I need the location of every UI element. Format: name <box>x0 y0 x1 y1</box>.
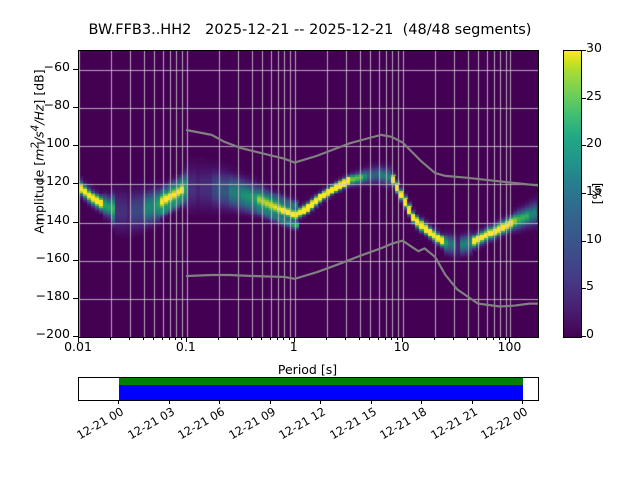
nlnm-curve <box>187 241 538 307</box>
colorbar-tick-label: 20 <box>586 137 602 150</box>
y-tick-label: −180 <box>10 290 70 303</box>
x-tick-mark-minor <box>326 337 327 340</box>
x-tick-label: 1 <box>264 341 324 354</box>
y-tick-label: −60 <box>10 61 70 74</box>
x-tick-mark-minor <box>237 337 238 340</box>
x-tick-mark-minor <box>467 337 468 340</box>
x-tick-mark-minor <box>218 337 219 340</box>
ppsd-figure: BW.FFB3..HH2 2025-12-21 -- 2025-12-21 (4… <box>0 0 640 480</box>
colorbar-tick-label: 30 <box>586 42 602 55</box>
colorbar-label: [%] <box>590 154 605 234</box>
coverage-timeline <box>78 377 539 401</box>
y-tick-mark <box>73 298 78 299</box>
colorbar <box>563 50 582 338</box>
x-tick-mark-minor <box>359 337 360 340</box>
x-tick-mark-minor <box>486 337 487 340</box>
y-tick-label: −200 <box>10 328 70 341</box>
x-tick-mark-minor <box>277 337 278 340</box>
x-tick-label: 100 <box>479 341 539 354</box>
nhnm-curve <box>187 130 538 185</box>
y-tick-mark <box>73 222 78 223</box>
y-tick-label: −100 <box>10 137 70 150</box>
x-tick-mark-minor <box>129 337 130 340</box>
colorbar-tick-label: 0 <box>586 328 594 341</box>
x-tick-mark-minor <box>369 337 370 340</box>
x-tick-label: 10 <box>372 341 432 354</box>
colorbar-tick-label: 5 <box>586 280 594 293</box>
y-tick-label: −120 <box>10 175 70 188</box>
x-tick-mark-minor <box>477 337 478 340</box>
y-tick-mark <box>73 260 78 261</box>
x-tick-mark-minor <box>345 337 346 340</box>
y-tick-mark <box>73 69 78 70</box>
x-tick-mark-minor <box>283 337 284 340</box>
colorbar-tick-label: 25 <box>586 90 602 103</box>
x-tick-mark-minor <box>251 337 252 340</box>
x-tick-mark-minor <box>261 337 262 340</box>
x-tick-mark-minor <box>169 337 170 340</box>
y-tick-label: −140 <box>10 214 70 227</box>
x-tick-mark-minor <box>153 337 154 340</box>
y-tick-mark <box>73 107 78 108</box>
colorbar-tick-label: 10 <box>586 233 602 246</box>
noise-model-curves <box>79 51 538 337</box>
x-tick-mark-minor <box>434 337 435 340</box>
y-tick-label: −160 <box>10 252 70 265</box>
x-tick-mark-minor <box>453 337 454 340</box>
x-tick-mark-minor <box>110 337 111 340</box>
y-tick-mark <box>73 183 78 184</box>
x-tick-mark-minor <box>493 337 494 340</box>
x-tick-label: 0.01 <box>48 341 108 354</box>
ppsd-plot-area <box>78 50 539 338</box>
timeline-segment-used <box>119 378 523 385</box>
x-tick-mark-minor <box>385 337 386 340</box>
x-tick-label: 0.1 <box>156 341 216 354</box>
x-tick-mark-minor <box>378 337 379 340</box>
y-tick-mark <box>73 145 78 146</box>
x-tick-mark-minor <box>270 337 271 340</box>
x-axis-label: Period [s] <box>78 362 537 377</box>
timeline-segment-available <box>119 385 523 400</box>
x-tick-mark-minor <box>162 337 163 340</box>
page-title: BW.FFB3..HH2 2025-12-21 -- 2025-12-21 (4… <box>0 22 620 38</box>
x-tick-mark-minor <box>391 337 392 340</box>
y-tick-label: −80 <box>10 99 70 112</box>
x-tick-mark-minor <box>143 337 144 340</box>
